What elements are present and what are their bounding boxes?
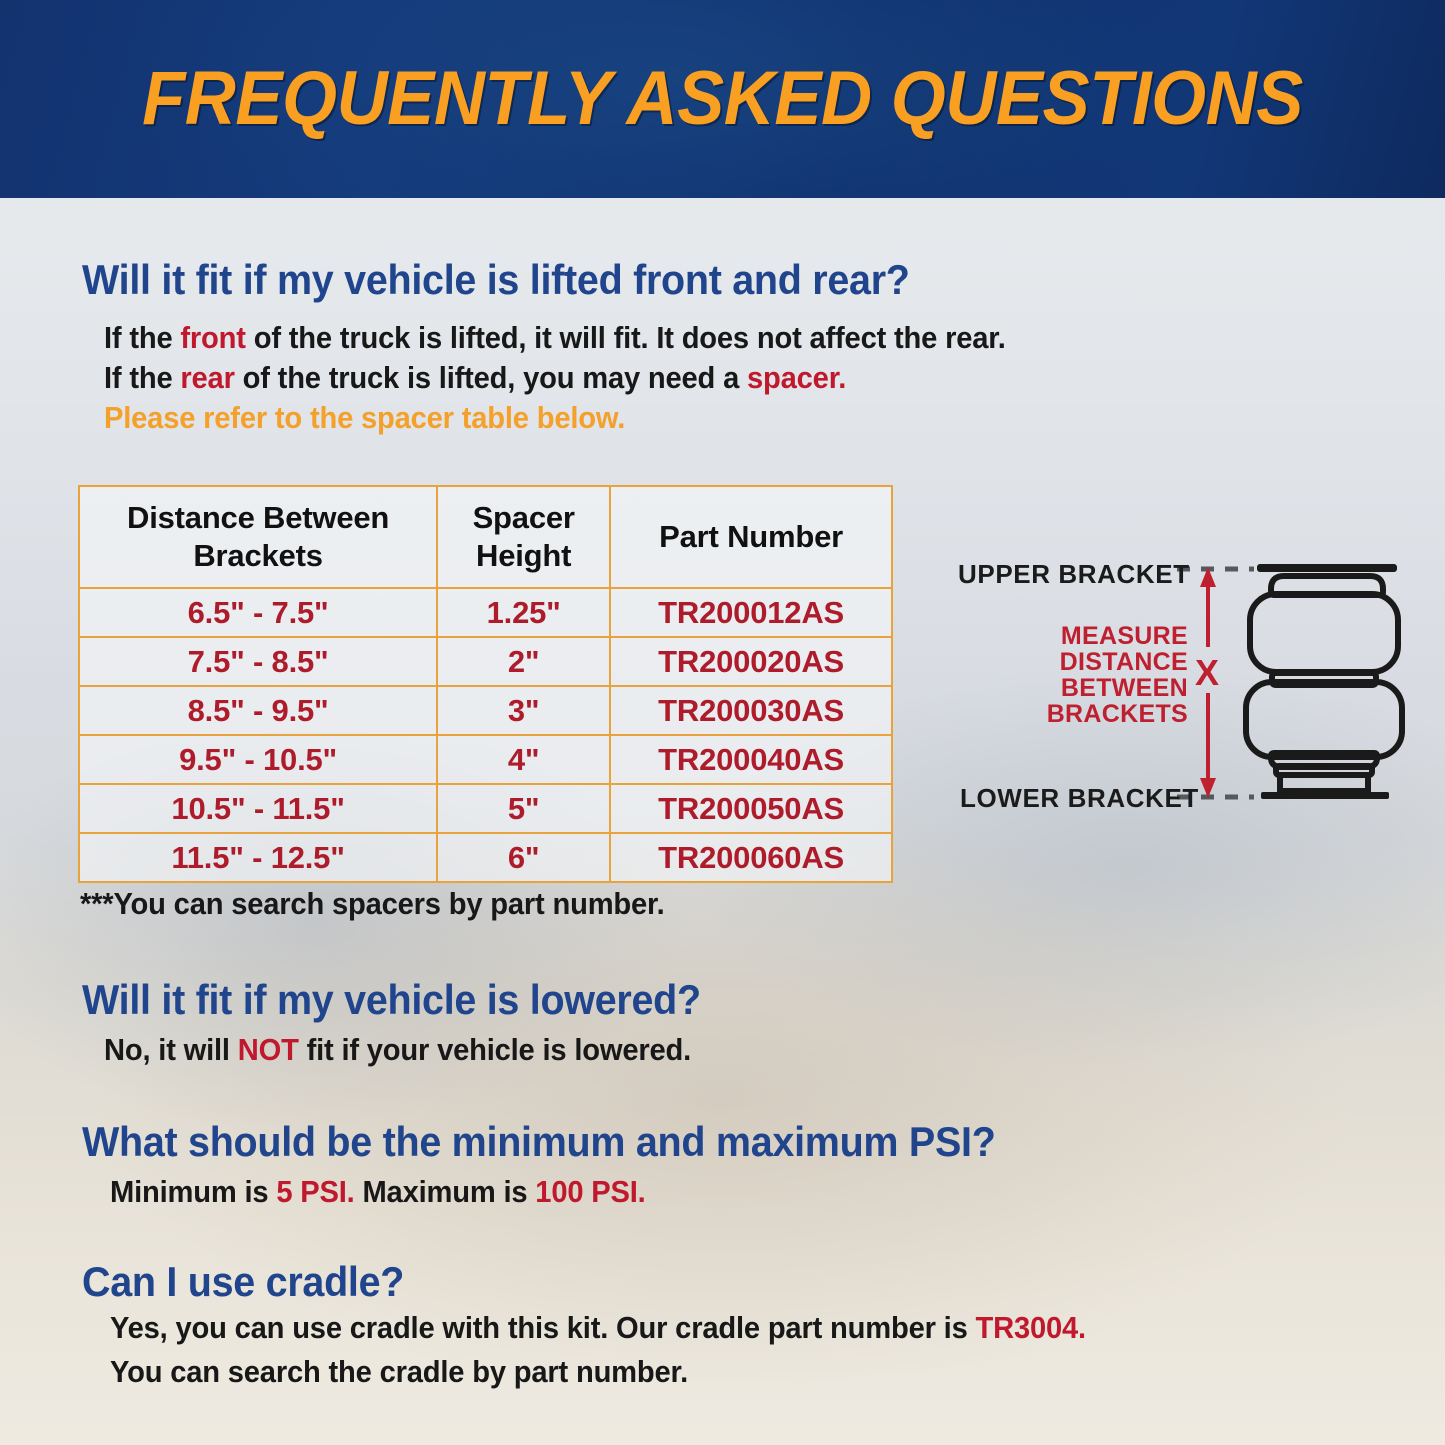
- cell-distance: 7.5" - 8.5": [79, 637, 437, 686]
- cell-spacer-height: 3": [437, 686, 610, 735]
- bracket-measurement-diagram: UPPER BRACKET LOWER BRACKET MEASURE DIST…: [940, 545, 1410, 830]
- piston-cylinder: [1280, 775, 1368, 791]
- table-header-spacer-height: Spacer Height: [437, 486, 610, 588]
- answer-cradle-l1-part1: Yes, you can use cradle with this kit. O…: [110, 1310, 976, 1345]
- answer-psi-min: 5 PSI.: [276, 1174, 354, 1209]
- spacer-table: Distance Between Brackets Spacer Height …: [78, 485, 893, 883]
- question-cradle: Can I use cradle?: [82, 1258, 404, 1306]
- answer-lifted-l2-part3: of the truck is lifted, you may need a: [235, 360, 747, 395]
- table-footnote: ***You can search spacers by part number…: [80, 884, 665, 924]
- answer-lowered-part1: No, it will: [104, 1032, 238, 1067]
- measure-line-1: MEASURE: [1047, 623, 1188, 649]
- cell-distance: 11.5" - 12.5": [79, 833, 437, 882]
- lower-lobe: [1246, 682, 1402, 757]
- table-header-row: Distance Between Brackets Spacer Height …: [79, 486, 892, 588]
- page-title: FREQUENTLY ASKED QUESTIONS: [51, 52, 1395, 146]
- air-spring-body: [1246, 564, 1402, 799]
- answer-lifted-line-3: Please refer to the spacer table below.: [104, 398, 625, 438]
- table-row: 7.5" - 8.5" 2" TR200020AS: [79, 637, 892, 686]
- cell-spacer-height: 2": [437, 637, 610, 686]
- answer-lifted-line-1: If the front of the truck is lifted, it …: [104, 318, 1006, 358]
- answer-cradle-line-2: You can search the cradle by part number…: [110, 1352, 688, 1392]
- table-row: 8.5" - 9.5" 3" TR200030AS: [79, 686, 892, 735]
- cell-distance: 10.5" - 11.5": [79, 784, 437, 833]
- table-header-distance: Distance Between Brackets: [79, 486, 437, 588]
- cell-part-number: TR200030AS: [610, 686, 892, 735]
- answer-lifted-l1-part3: of the truck is lifted, it will fit. It …: [246, 320, 1006, 355]
- answer-lifted-l2-rear: rear: [180, 360, 234, 395]
- cell-part-number: TR200012AS: [610, 588, 892, 637]
- faq-page: FREQUENTLY ASKED QUESTIONS Will it fit i…: [0, 0, 1445, 1445]
- table-row: 9.5" - 10.5" 4" TR200040AS: [79, 735, 892, 784]
- answer-lifted-l1-part1: If the: [104, 320, 180, 355]
- answer-psi-max: 100 PSI.: [535, 1174, 645, 1209]
- question-lifted-front-rear: Will it fit if my vehicle is lifted fron…: [82, 256, 910, 304]
- cell-spacer-height: 1.25": [437, 588, 610, 637]
- answer-cradle-part-number: TR3004.: [976, 1310, 1086, 1345]
- answer-cradle-line-1: Yes, you can use cradle with this kit. O…: [110, 1308, 1086, 1348]
- lower-bracket-label: LOWER BRACKET: [960, 783, 1199, 814]
- measure-instruction-text: MEASURE DISTANCE BETWEEN BRACKETS: [1047, 623, 1188, 727]
- question-lowered: Will it fit if my vehicle is lowered?: [82, 976, 701, 1024]
- answer-psi-part3: Maximum is: [355, 1174, 536, 1209]
- measure-line-4: BRACKETS: [1047, 701, 1188, 727]
- cell-distance: 9.5" - 10.5": [79, 735, 437, 784]
- answer-lifted-l2-part1: If the: [104, 360, 180, 395]
- table-row: 11.5" - 12.5" 6" TR200060AS: [79, 833, 892, 882]
- table-header-part-number: Part Number: [610, 486, 892, 588]
- top-mounting-plate: [1257, 564, 1397, 572]
- answer-psi-range: Minimum is 5 PSI. Maximum is 100 PSI.: [110, 1172, 646, 1212]
- answer-lifted-l1-front: front: [180, 320, 245, 355]
- upper-bracket-label: UPPER BRACKET: [958, 559, 1190, 590]
- dimension-x-symbol: X: [1195, 655, 1219, 691]
- cell-spacer-height: 5": [437, 784, 610, 833]
- question-psi-range: What should be the minimum and maximum P…: [82, 1118, 996, 1166]
- page-header: FREQUENTLY ASKED QUESTIONS: [0, 0, 1445, 198]
- measure-line-3: BETWEEN: [1047, 675, 1188, 701]
- bottom-mounting-plate: [1261, 792, 1389, 799]
- measure-line-2: DISTANCE: [1047, 649, 1188, 675]
- cell-spacer-height: 4": [437, 735, 610, 784]
- table-row: 10.5" - 11.5" 5" TR200050AS: [79, 784, 892, 833]
- answer-lifted-l2-spacer: spacer.: [747, 360, 846, 395]
- table-row: 6.5" - 7.5" 1.25" TR200012AS: [79, 588, 892, 637]
- cell-spacer-height: 6": [437, 833, 610, 882]
- cell-distance: 8.5" - 9.5": [79, 686, 437, 735]
- cell-part-number: TR200050AS: [610, 784, 892, 833]
- answer-lowered-part3: fit if your vehicle is lowered.: [299, 1032, 691, 1067]
- answer-psi-part1: Minimum is: [110, 1174, 276, 1209]
- upper-lobe: [1250, 594, 1398, 672]
- cell-part-number: TR200020AS: [610, 637, 892, 686]
- cell-part-number: TR200040AS: [610, 735, 892, 784]
- answer-lifted-line-2: If the rear of the truck is lifted, you …: [104, 358, 846, 398]
- cell-distance: 6.5" - 7.5": [79, 588, 437, 637]
- cell-part-number: TR200060AS: [610, 833, 892, 882]
- answer-lowered: No, it will NOT fit if your vehicle is l…: [104, 1030, 691, 1070]
- answer-lowered-not: NOT: [238, 1032, 299, 1067]
